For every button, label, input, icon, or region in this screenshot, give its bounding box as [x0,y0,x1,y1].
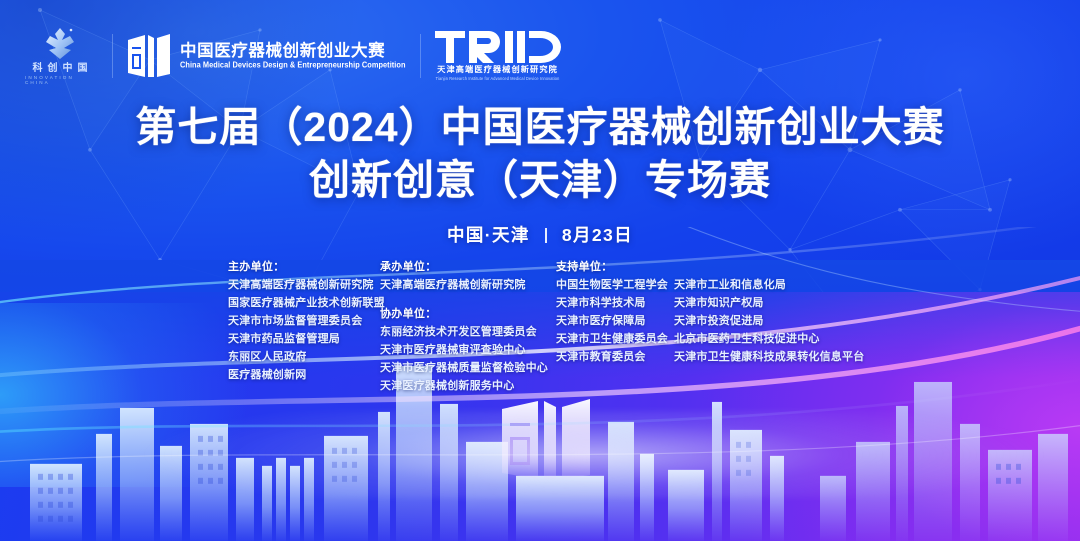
host-item: 天津高端医疗器械创新研究院 [380,280,556,291]
triid-wordmark-icon [435,31,561,63]
main-title: 第七届（2024）中国医疗器械创新创业大赛 创新创意（天津）专场赛 [0,104,1080,203]
supporter-item: 天津市卫生健康科技成果转化信息平台 [674,352,864,363]
organizer-item: 医疗器械创新网 [228,370,380,381]
event-date: 8月23日 [562,225,633,245]
co-organizer-item: 天津市医疗器械审评查验中心 [380,345,556,356]
organizer-item: 天津高端医疗器械创新研究院 [228,280,380,291]
logo-divider-2 [420,34,421,78]
poster-canvas: 科创中国 INNOVATION CHINA 中国 [0,0,1080,541]
title-line-2: 创新创意（天津）专场赛 [0,157,1080,204]
supporter-item: 天津市科学技术局 [556,298,674,309]
supporter-item: 天津市知识产权局 [674,298,864,309]
logo-competition: 中国医疗器械创新创业大赛 China Medical Devices Desig… [127,33,406,79]
organizer-item: 天津市市场监督管理委员会 [228,316,380,327]
title-line-1: 第七届（2024）中国医疗器械创新创业大赛 [0,104,1080,151]
co-organizer-item: 天津医疗器械创新服务中心 [380,381,556,392]
event-subtitle: 中国·天津 8月23日 [0,222,1080,247]
supporter-heading: 支持单位： [556,262,864,273]
logo-divider-1 [112,34,113,78]
logo-bar: 科创中国 INNOVATION CHINA 中国 [22,26,561,85]
kechuang-name-en: INNOVATION CHINA [22,76,98,85]
organizer-item: 天津市药品监督管理局 [228,334,380,345]
competition-name-en: China Medical Devices Design & Entrepren… [180,61,406,69]
organizer-item: 东丽区人民政府 [228,352,380,363]
sponsor-column-supporter: 支持单位： 中国生物医学工程学会 天津市科学技术局 天津市医疗保障局 天津市卫生… [556,262,864,399]
kechuang-name-cn: 科创中国 [28,64,93,74]
open-door-logo-icon [127,33,171,79]
supporter-item: 天津市投资促进局 [674,316,864,327]
co-organizer-heading: 协办单位： [380,309,556,320]
sponsor-column-host: 承办单位： 天津高端医疗器械创新研究院 协办单位： 东丽经济技术开发区管理委员会… [380,262,556,399]
subtitle-separator [545,228,547,243]
event-location: 中国·天津 [447,225,530,245]
supporter-item: 中国生物医学工程学会 [556,280,674,291]
supporter-item: 北京市医药卫生科技促进中心 [674,334,864,345]
supporter-item: 天津市工业和信息化局 [674,280,864,291]
competition-name-cn: 中国医疗器械创新创业大赛 [180,43,406,60]
logo-triid: 天津高端医疗器械创新研究院 Tianjin Research Institute… [435,31,561,81]
organizer-item: 国家医疗器械产业技术创新联盟 [228,298,380,309]
sponsor-column-organizer: 主办单位： 天津高端医疗器械创新研究院 国家医疗器械产业技术创新联盟 天津市市场… [228,262,380,399]
supporter-subcolumn-b: 天津市工业和信息化局 天津市知识产权局 天津市投资促进局 北京市医药卫生科技促进… [674,280,864,370]
supporter-item: 天津市教育委员会 [556,352,674,363]
supporter-item: 天津市医疗保障局 [556,316,674,327]
supporter-subcolumn-a: 中国生物医学工程学会 天津市科学技术局 天津市医疗保障局 天津市卫生健康委员会 … [556,280,674,370]
triid-name-cn: 天津高端医疗器械创新研究院 [437,66,558,74]
co-organizer-item: 天津市医疗器械质量监督检验中心 [380,363,556,374]
triid-name-en: Tianjin Research Institute for Advanced … [436,77,560,81]
logo-kechuang-china: 科创中国 INNOVATION CHINA [22,26,98,85]
supporter-item: 天津市卫生健康委员会 [556,334,674,345]
bird-mark-icon [40,26,80,62]
host-heading: 承办单位： [380,262,556,273]
sponsor-section: 主办单位： 天津高端医疗器械创新研究院 国家医疗器械产业技术创新联盟 天津市市场… [228,262,864,399]
co-organizer-item: 东丽经济技术开发区管理委员会 [380,327,556,338]
organizer-heading: 主办单位： [228,262,380,273]
